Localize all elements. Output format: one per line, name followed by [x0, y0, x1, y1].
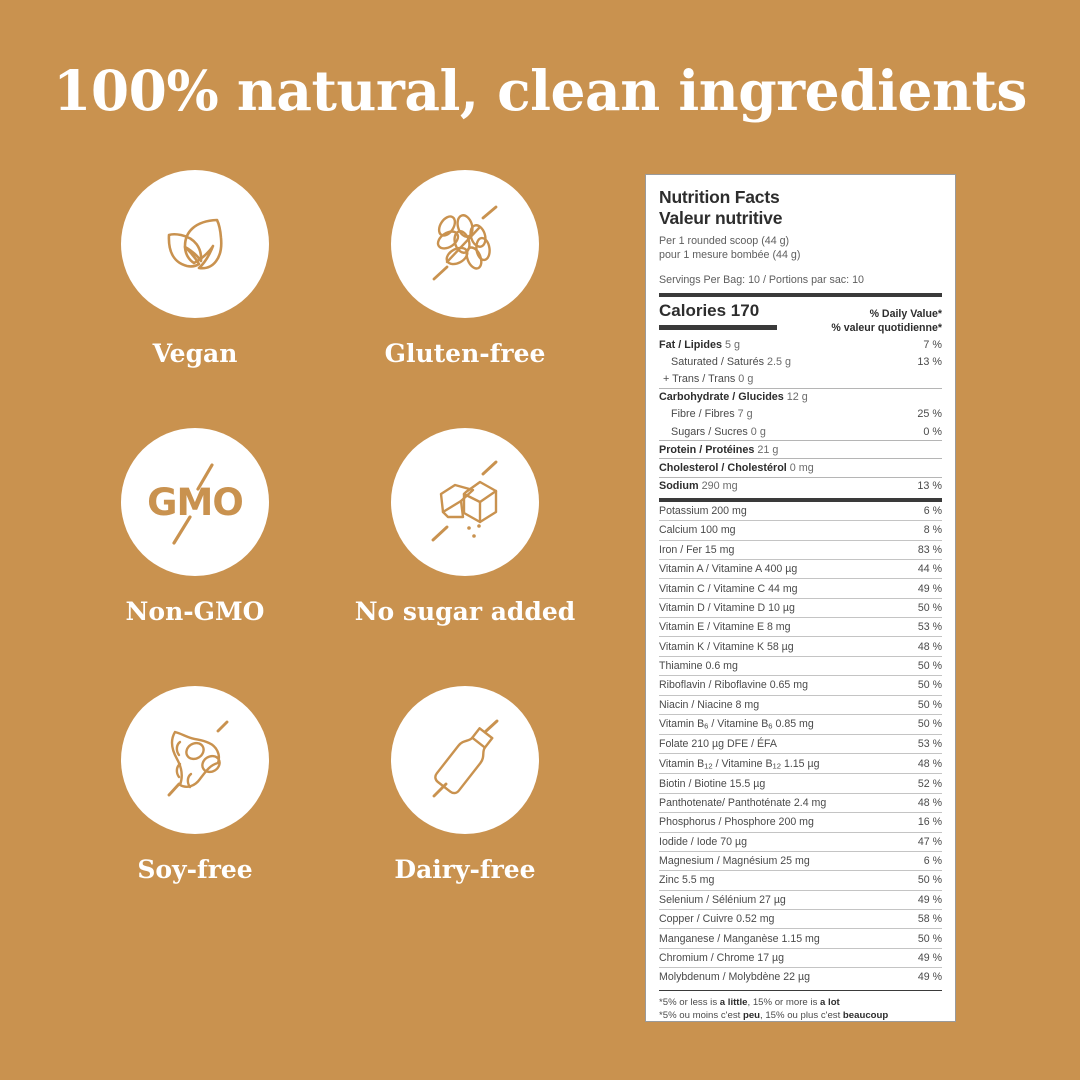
micronutrient-name: Calcium 100 mg	[659, 524, 736, 536]
micronutrient-row: Iodide / Iode 70 µg47 %	[659, 832, 942, 851]
micronutrient-name: Thiamine 0.6 mg	[659, 660, 738, 672]
micronutrient-daily-value: 16 %	[918, 816, 942, 828]
micronutrient-name: Molybdenum / Molybdène 22 µg	[659, 971, 810, 983]
footnote-en-bold-2: a lot	[820, 997, 840, 1008]
footnote-fr-pre: *5% ou moins c'est	[659, 1010, 743, 1021]
micronutrient-row: Phosphorus / Phosphore 200 mg16 %	[659, 812, 942, 831]
gmo-icon-text: GMO	[147, 481, 243, 524]
badge-label: No sugar added	[355, 597, 576, 626]
nutrient-row: + Trans / Trans 0 g	[659, 371, 942, 388]
nutrient-daily-value: 13 %	[911, 480, 942, 492]
micronutrient-row: Selenium / Sélénium 27 µg49 %	[659, 890, 942, 909]
micronutrient-name: Vitamin A / Vitamine A 400 µg	[659, 563, 797, 575]
daily-value-en: % Daily Value*	[831, 307, 942, 321]
micronutrient-daily-value: 48 %	[918, 641, 942, 653]
micronutrient-name: Vitamin B6 / Vitamine B6 0.85 mg	[659, 718, 814, 731]
soybean-icon	[147, 712, 243, 808]
micronutrient-daily-value: 49 %	[918, 971, 942, 983]
micronutrient-row: Vitamin E / Vitamine E 8 mg53 %	[659, 617, 942, 636]
nutrition-title-en: Nutrition Facts	[659, 187, 942, 208]
nutrition-facts-panel: Nutrition Facts Valeur nutritive Per 1 r…	[645, 174, 956, 1022]
badge-label: Dairy-free	[394, 855, 535, 884]
nutrient-amount: 0 mg	[787, 462, 814, 474]
calories-underline	[659, 325, 777, 330]
micronutrient-daily-value: 48 %	[918, 758, 942, 770]
micronutrient-daily-value: 52 %	[918, 778, 942, 790]
footnote: *5% or less is a little, 15% or more is …	[659, 991, 942, 1023]
daily-value-header: % Daily Value* % valeur quotidienne*	[831, 301, 942, 336]
micronutrient-daily-value: 8 %	[924, 524, 942, 536]
micronutrient-name: Zinc 5.5 mg	[659, 874, 714, 886]
micronutrient-name: Potassium 200 mg	[659, 505, 747, 517]
footnote-en-pre: *5% or less is	[659, 997, 720, 1008]
badge-circle	[121, 686, 269, 834]
page-title: 100% natural, clean ingredients	[0, 58, 1080, 123]
micronutrient-daily-value: 83 %	[918, 544, 942, 556]
micronutrient-daily-value: 49 %	[918, 894, 942, 906]
nutrient-amount: 0 g	[748, 426, 766, 438]
nutrient-daily-value: 25 %	[911, 408, 942, 420]
milk-bottle-icon	[417, 712, 513, 808]
micronutrient-daily-value: 6 %	[924, 505, 942, 517]
nutrient-daily-value: 7 %	[917, 339, 942, 351]
micronutrient-daily-value: 50 %	[918, 679, 942, 691]
micronutrient-list: Potassium 200 mg6 %Calcium 100 mg8 %Iron…	[659, 502, 942, 987]
badge-circle	[391, 428, 539, 576]
servings-per-bag: Servings Per Bag: 10 / Portions par sac:…	[659, 274, 942, 286]
badge-label: Gluten-free	[385, 339, 546, 368]
footnote-en-mid: , 15% or more is	[748, 997, 821, 1008]
footnote-fr: *5% ou moins c'est peu, 15% ou plus c'es…	[659, 1009, 942, 1023]
micronutrient-row: Niacin / Niacine 8 mg50 %	[659, 695, 942, 714]
micronutrient-name: Magnesium / Magnésium 25 mg	[659, 855, 810, 867]
micronutrient-name: Selenium / Sélénium 27 µg	[659, 894, 786, 906]
leaf-icon	[147, 196, 243, 292]
micronutrient-name: Panthotenate/ Panthoténate 2.4 mg	[659, 797, 826, 809]
nutrient-name: Carbohydrate / Glucides 12 g	[659, 391, 808, 403]
micronutrient-daily-value: 48 %	[918, 797, 942, 809]
micronutrient-name: Chromium / Chrome 17 µg	[659, 952, 784, 964]
sugar-cubes-icon	[417, 454, 513, 550]
micronutrient-name: Folate 210 µg DFE / ÉFA	[659, 738, 777, 750]
nutrient-amount: 12 g	[784, 391, 808, 403]
serving-size-fr: pour 1 mesure bombée (44 g)	[659, 248, 942, 262]
micronutrient-row: Vitamin B12 / Vitamine B12 1.15 µg48 %	[659, 753, 942, 773]
badge-circle	[121, 170, 269, 318]
footnote-en-bold-1: a little	[720, 997, 748, 1008]
micronutrient-name: Manganese / Manganèse 1.15 mg	[659, 933, 820, 945]
badge-soy-free: Soy-free	[60, 686, 330, 884]
micronutrient-row: Vitamin D / Vitamine D 10 µg50 %	[659, 598, 942, 617]
nutrient-amount: 0 g	[735, 373, 753, 385]
micronutrient-daily-value: 49 %	[918, 952, 942, 964]
nutrient-name: Fat / Lipides 5 g	[659, 339, 740, 351]
micronutrient-row: Molybdenum / Molybdène 22 µg49 %	[659, 967, 942, 986]
micronutrient-name: Phosphorus / Phosphore 200 mg	[659, 816, 814, 828]
micronutrient-name: Iodide / Iode 70 µg	[659, 836, 747, 848]
calories-value: Calories 170	[659, 301, 777, 321]
badge-circle: GMO	[121, 428, 269, 576]
nutrient-row: Fat / Lipides 5 g7 %	[659, 336, 942, 353]
micronutrient-row: Magnesium / Magnésium 25 mg6 %	[659, 851, 942, 870]
micronutrient-row: Vitamin B6 / Vitamine B6 0.85 mg50 %	[659, 714, 942, 734]
micronutrient-row: Chromium / Chrome 17 µg49 %	[659, 948, 942, 967]
micronutrient-daily-value: 50 %	[918, 660, 942, 672]
micronutrient-name: Niacin / Niacine 8 mg	[659, 699, 759, 711]
nutrient-name: Sodium 290 mg	[659, 480, 738, 492]
nutrient-row: Fibre / Fibres 7 g25 %	[659, 406, 942, 423]
micronutrient-row: Manganese / Manganèse 1.15 mg50 %	[659, 928, 942, 947]
micronutrient-row: Vitamin K / Vitamine K 58 µg48 %	[659, 636, 942, 655]
badge-vegan: Vegan	[60, 170, 330, 368]
micronutrient-row: Zinc 5.5 mg50 %	[659, 870, 942, 889]
nutrition-title: Nutrition Facts Valeur nutritive	[659, 187, 942, 228]
micronutrient-row: Thiamine 0.6 mg50 %	[659, 656, 942, 675]
micronutrient-daily-value: 58 %	[918, 913, 942, 925]
micronutrient-row: Calcium 100 mg8 %	[659, 520, 942, 539]
micronutrient-row: Potassium 200 mg6 %	[659, 502, 942, 520]
nutrient-name: Fibre / Fibres 7 g	[671, 408, 753, 420]
nutrient-amount: 5 g	[722, 339, 740, 351]
micronutrient-daily-value: 53 %	[918, 738, 942, 750]
serving-size: Per 1 rounded scoop (44 g) pour 1 mesure…	[659, 234, 942, 262]
nutrient-name: Sugars / Sucres 0 g	[671, 426, 766, 438]
micronutrient-row: Biotin / Biotine 15.5 µg52 %	[659, 773, 942, 792]
gmo-icon: GMO	[140, 447, 250, 557]
nutrient-row: Sugars / Sucres 0 g0 %	[659, 423, 942, 440]
wheat-icon	[417, 196, 513, 292]
micronutrient-name: Copper / Cuivre 0.52 mg	[659, 913, 774, 925]
micronutrient-daily-value: 50 %	[918, 874, 942, 886]
badge-no-sugar-added: No sugar added	[330, 428, 600, 626]
micronutrient-daily-value: 50 %	[918, 933, 942, 945]
footnote-fr-bold-1: peu	[743, 1010, 760, 1021]
macronutrient-list: Fat / Lipides 5 g7 %Saturated / Saturés …	[659, 335, 942, 495]
micronutrient-row: Vitamin C / Vitamine C 44 mg49 %	[659, 578, 942, 597]
nutrient-row: Saturated / Saturés 2.5 g13 %	[659, 353, 942, 370]
nutrient-amount: 21 g	[754, 444, 778, 456]
daily-value-fr: % valeur quotidienne*	[831, 321, 942, 335]
badge-circle	[391, 686, 539, 834]
badge-label: Non-GMO	[126, 597, 265, 626]
nutrient-amount: 290 mg	[699, 480, 738, 492]
badge-grid: Vegan Gluten-free	[60, 170, 600, 884]
nutrient-name: Cholesterol / Cholestérol 0 mg	[659, 462, 814, 474]
nutrient-row: Protein / Protéines 21 g	[659, 441, 942, 458]
footnote-fr-mid: , 15% ou plus c'est	[760, 1010, 843, 1021]
nutrient-daily-value: 13 %	[911, 356, 942, 368]
micronutrient-row: Folate 210 µg DFE / ÉFA53 %	[659, 734, 942, 753]
micronutrient-row: Panthotenate/ Panthoténate 2.4 mg48 %	[659, 793, 942, 812]
badge-label: Soy-free	[137, 855, 252, 884]
micronutrient-name: Vitamin D / Vitamine D 10 µg	[659, 602, 795, 614]
micronutrient-daily-value: 6 %	[924, 855, 942, 867]
micronutrient-name: Vitamin E / Vitamine E 8 mg	[659, 621, 791, 633]
micronutrient-row: Iron / Fer 15 mg83 %	[659, 540, 942, 559]
micronutrient-name: Iron / Fer 15 mg	[659, 544, 734, 556]
micronutrient-name: Biotin / Biotine 15.5 µg	[659, 778, 765, 790]
badge-dairy-free: Dairy-free	[330, 686, 600, 884]
micronutrient-daily-value: 49 %	[918, 583, 942, 595]
micronutrient-daily-value: 50 %	[918, 699, 942, 711]
nutrient-row: Cholesterol / Cholestérol 0 mg	[659, 459, 942, 476]
nutrient-amount: 2.5 g	[764, 356, 791, 368]
footnote-en: *5% or less is a little, 15% or more is …	[659, 996, 942, 1010]
nutrition-title-fr: Valeur nutritive	[659, 208, 942, 229]
nutrient-amount: 7 g	[735, 408, 753, 420]
badge-gluten-free: Gluten-free	[330, 170, 600, 368]
micronutrient-row: Vitamin A / Vitamine A 400 µg44 %	[659, 559, 942, 578]
micronutrient-daily-value: 50 %	[918, 718, 942, 730]
micronutrient-daily-value: 47 %	[918, 836, 942, 848]
footnote-fr-bold-2: beaucoup	[843, 1010, 888, 1021]
badge-circle	[391, 170, 539, 318]
nutrient-name: + Trans / Trans 0 g	[663, 373, 753, 385]
badge-label: Vegan	[153, 339, 238, 368]
micronutrient-daily-value: 44 %	[918, 563, 942, 575]
nutrient-daily-value: 0 %	[917, 426, 942, 438]
micronutrient-daily-value: 50 %	[918, 602, 942, 614]
micronutrient-name: Vitamin B12 / Vitamine B12 1.15 µg	[659, 758, 820, 771]
badge-non-gmo: GMO Non-GMO	[60, 428, 330, 626]
nutrient-name: Saturated / Saturés 2.5 g	[671, 356, 791, 368]
micronutrient-name: Vitamin K / Vitamine K 58 µg	[659, 641, 794, 653]
micronutrient-daily-value: 53 %	[918, 621, 942, 633]
nutrient-row: Carbohydrate / Glucides 12 g	[659, 389, 942, 406]
micronutrient-row: Copper / Cuivre 0.52 mg58 %	[659, 909, 942, 928]
calories-row: Calories 170 % Daily Value* % valeur quo…	[659, 297, 942, 336]
micronutrient-name: Vitamin C / Vitamine C 44 mg	[659, 583, 798, 595]
nutrient-row: Sodium 290 mg13 %	[659, 478, 942, 495]
micronutrient-row: Riboflavin / Riboflavine 0.65 mg50 %	[659, 675, 942, 694]
nutrient-name: Protein / Protéines 21 g	[659, 444, 778, 456]
serving-size-en: Per 1 rounded scoop (44 g)	[659, 234, 942, 248]
micronutrient-name: Riboflavin / Riboflavine 0.65 mg	[659, 679, 808, 691]
